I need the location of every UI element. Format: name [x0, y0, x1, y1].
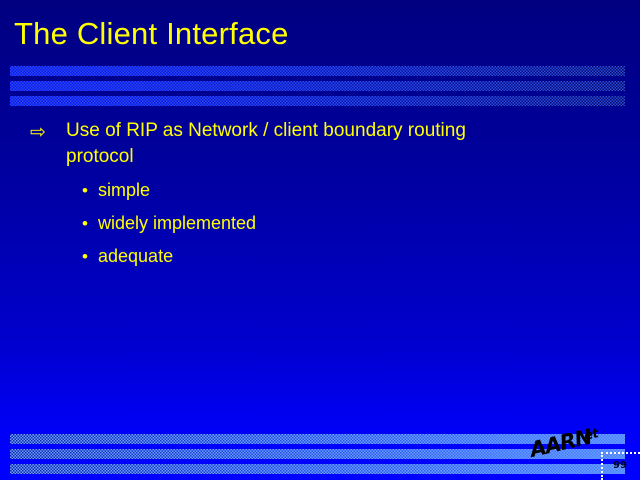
round-bullet-icon: • [82, 244, 98, 269]
bullet-level1: ⇨ Use of RIP as Network / client boundar… [30, 118, 590, 170]
page-number: 99 [613, 460, 627, 471]
bullet-level2-widely-implemented: • widely implemented [82, 211, 590, 236]
right-arrow-outline-icon: ⇨ [30, 118, 66, 146]
slide-body: ⇨ Use of RIP as Network / client boundar… [30, 118, 590, 269]
top-decor-bar-1 [10, 66, 625, 76]
bullet-level1-text: Use of RIP as Network / client boundary … [66, 118, 536, 170]
aarnet-logo-sub-text: et [583, 426, 600, 444]
slide-canvas: The Client Interface ⇨ Use of RIP as Net… [0, 0, 640, 480]
bullet-level2-text: adequate [98, 244, 173, 269]
top-decor-bar-2 [10, 81, 625, 91]
bottom-decor-bar-3 [10, 464, 625, 474]
page-number-placeholder-frame: 99 [601, 452, 640, 480]
top-decor-bar-3 [10, 96, 625, 106]
bullet-level2-text: simple [98, 178, 150, 203]
round-bullet-icon: • [82, 178, 98, 203]
round-bullet-icon: • [82, 211, 98, 236]
bullet-level2-simple: • simple [82, 178, 590, 203]
slide-title: The Client Interface [14, 16, 289, 52]
bullet-level2-text: widely implemented [98, 211, 256, 236]
bullet-level2-adequate: • adequate [82, 244, 590, 269]
